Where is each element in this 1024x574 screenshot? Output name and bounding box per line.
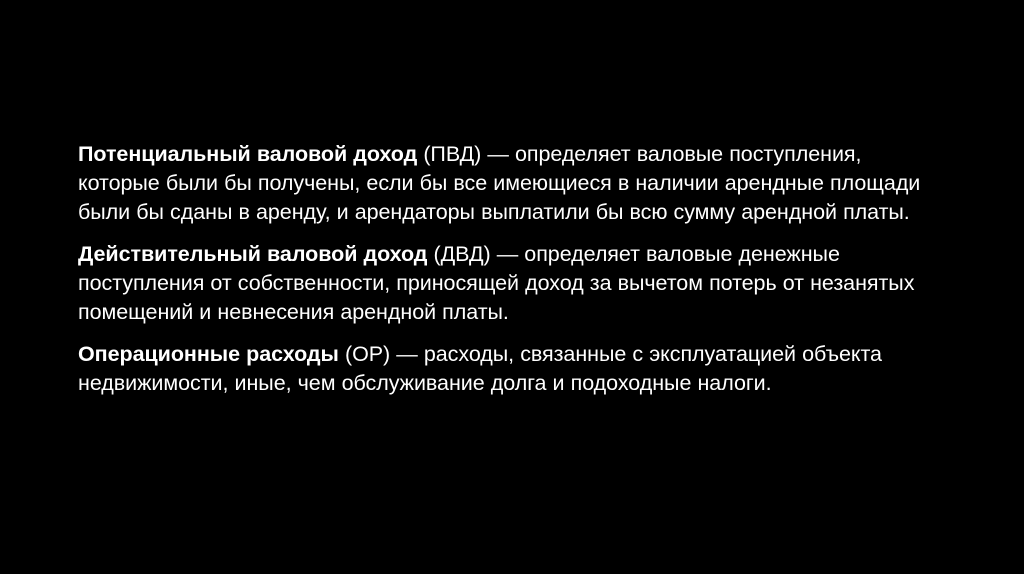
definition-paragraph-dvd: Действительный валовой доход (ДВД) — опр… [78,240,940,327]
definition-term-dvd: Действительный валовой доход [78,242,427,266]
definition-term-pvd: Потенциальный валовой доход [78,142,417,166]
definition-term-or: Операционные расходы [78,342,339,366]
definition-paragraph-pvd: Потенциальный валовой доход (ПВД) — опре… [78,140,940,227]
definition-paragraph-or: Операционные расходы (ОР) — расходы, свя… [78,340,940,398]
slide-canvas: Потенциальный валовой доход (ПВД) — опре… [0,0,1024,574]
definitions-list: Потенциальный валовой доход (ПВД) — опре… [78,140,940,398]
